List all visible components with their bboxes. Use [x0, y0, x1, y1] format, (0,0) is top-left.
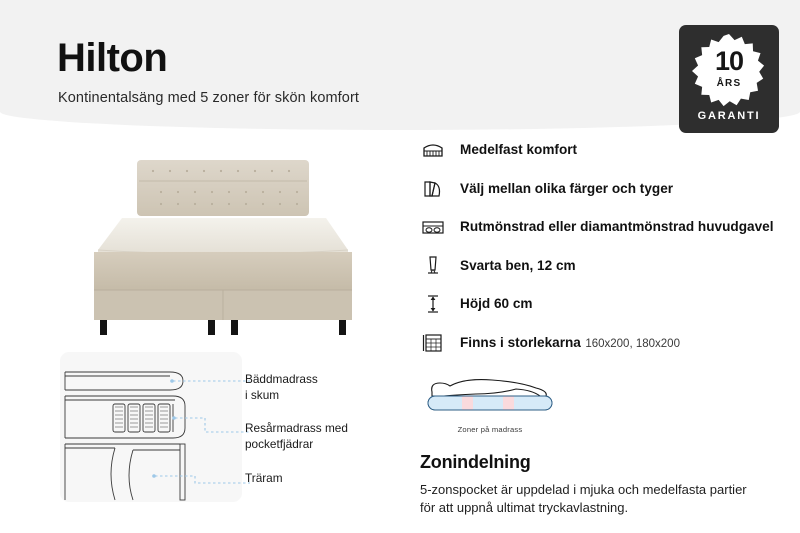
xsection-label-top-mattress: Bäddmadrass i skum [245, 372, 318, 403]
page-subtitle: Kontinentalsäng med 5 zoner för skön kom… [58, 90, 359, 106]
xsection-label-wood-frame: Träram [245, 471, 283, 487]
badge-years-label: ÅRS [679, 78, 779, 89]
feature-label: Medelfast komfort [460, 142, 577, 157]
feature-list: Medelfast komfort Välj mellan olika färg… [420, 140, 780, 371]
zoning-caption: Zoner på madrass [420, 425, 560, 434]
xsection-label-spring-mattress: Resårmadrass med pocketfjädrar [245, 421, 348, 452]
zoning-diagram [420, 372, 770, 423]
size-grid-icon [420, 330, 446, 356]
feature-label: Rutmönstrad eller diamantmönstrad huvudg… [460, 219, 773, 234]
feature-item: Rutmönstrad eller diamantmönstrad huvudg… [420, 217, 780, 240]
feature-label: Finns i storlekarna [460, 335, 581, 350]
mattress-comfort-icon [420, 137, 446, 163]
feature-label: Höjd 60 cm [460, 296, 533, 311]
badge-warranty-label: GARANTI [679, 110, 779, 122]
badge-number: 10 [679, 46, 779, 77]
zoning-title: Zonindelning [420, 452, 770, 473]
zoning-section: Zoner på madrass Zonindelning 5-zonspock… [420, 372, 770, 518]
feature-item: Finns i storlekarna 160x200, 180x200 [420, 333, 780, 356]
feature-label: Svarta ben, 12 cm [460, 258, 576, 273]
feature-label: Välj mellan olika färger och tyger [460, 181, 673, 196]
fabric-swatch-icon [420, 176, 446, 202]
warranty-badge: 10 ÅRS GARANTI [679, 25, 779, 133]
feature-item: Svarta ben, 12 cm [420, 256, 780, 279]
product-photo [60, 140, 400, 335]
feature-sublabel: 160x200, 180x200 [585, 338, 680, 350]
cross-section-diagram [55, 350, 405, 515]
height-arrow-icon [420, 291, 446, 317]
bed-leg-icon [420, 253, 446, 279]
feature-item: Medelfast komfort [420, 140, 780, 163]
infographic-page: Hilton Kontinentalsäng med 5 zoner för s… [0, 0, 800, 533]
page-title: Hilton [57, 38, 167, 78]
headboard-icon [420, 214, 446, 240]
feature-item: Höjd 60 cm [420, 294, 780, 317]
feature-item: Välj mellan olika färger och tyger [420, 179, 780, 202]
zoning-description: 5-zonspocket är uppdelad i mjuka och med… [420, 481, 750, 518]
